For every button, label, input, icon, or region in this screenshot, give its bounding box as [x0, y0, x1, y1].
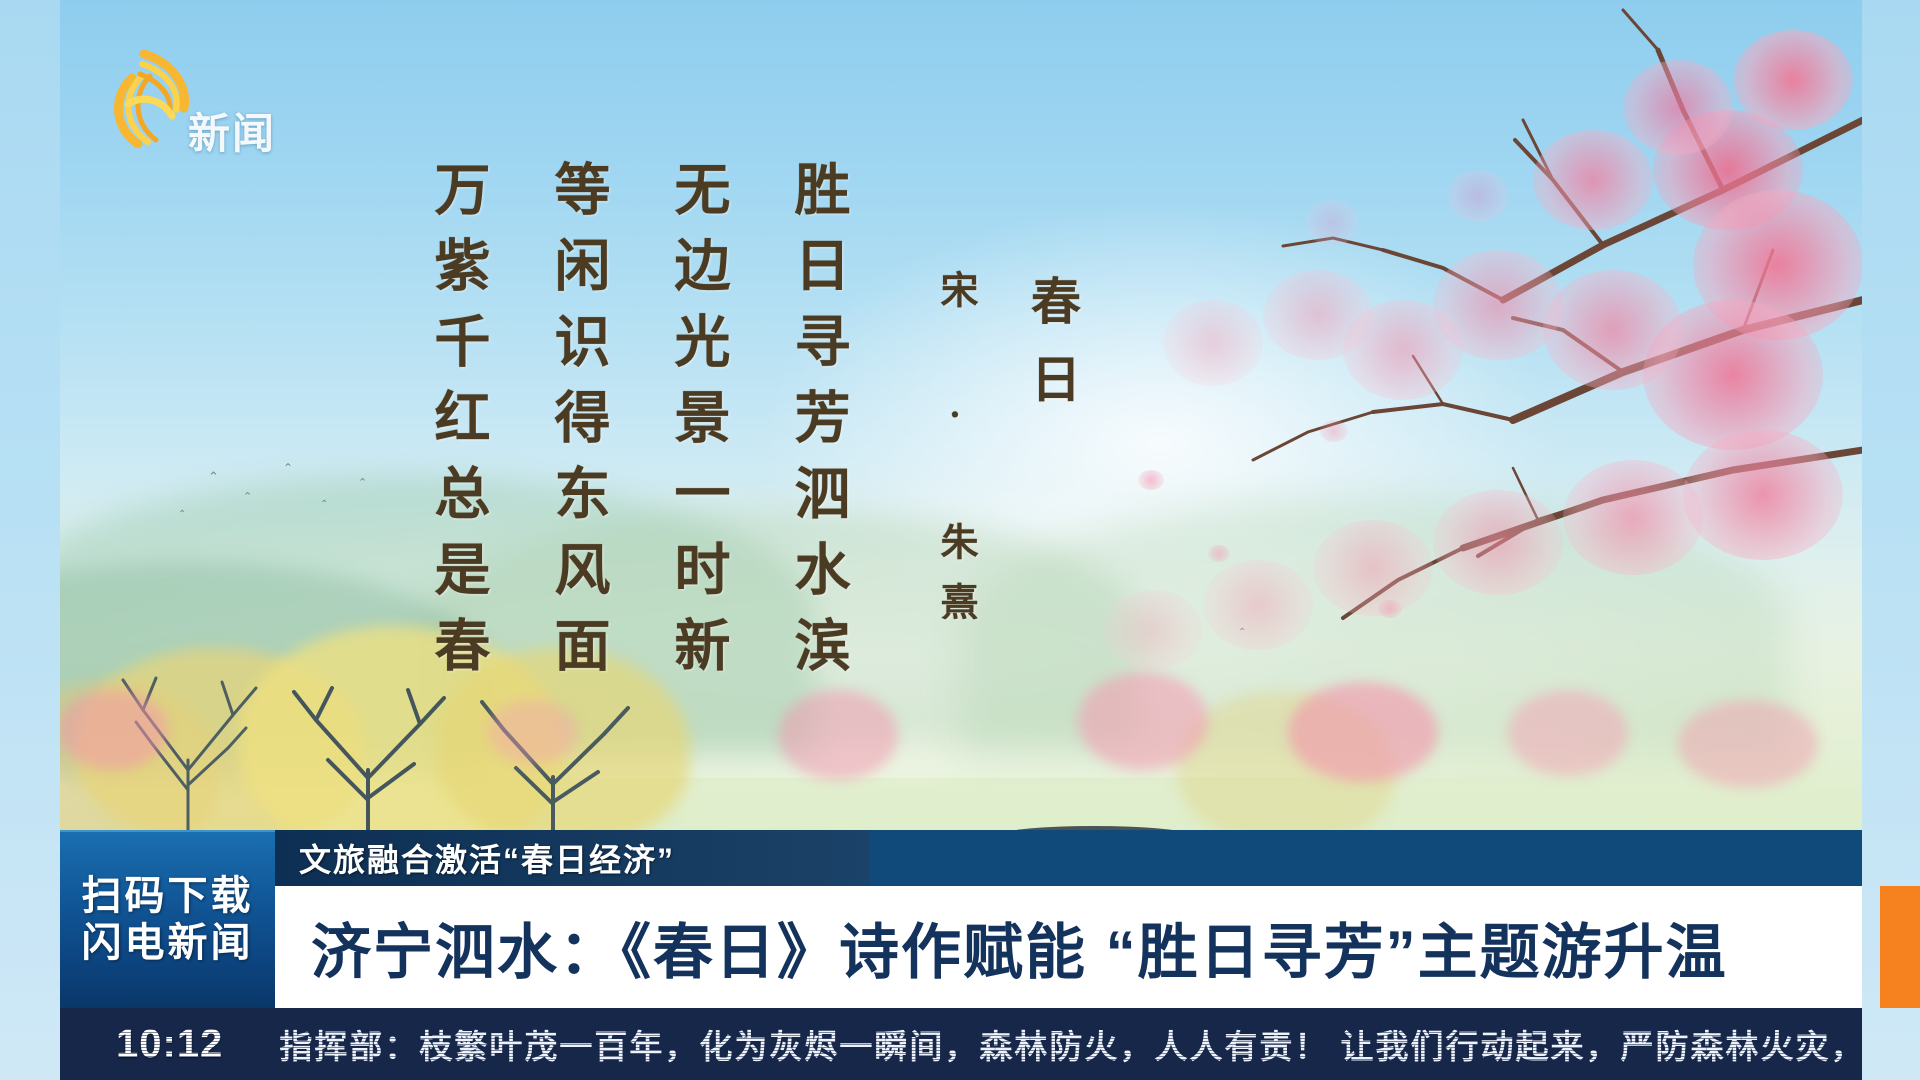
- blossom-cluster: [488, 700, 578, 764]
- poem-line-3: 等闲识得东风面: [537, 160, 618, 692]
- blossom-cluster: [778, 690, 898, 780]
- blossom-cluster: [58, 690, 168, 770]
- bird-icon: ⌃: [320, 500, 328, 510]
- broadcast-frame: ⌃ ⌃ ⌃ ⌃ ⌃ ⌃ ⌃: [0, 0, 1920, 1080]
- channel-logo-text: 新闻: [188, 100, 276, 161]
- news-ticker: 10:12 指挥部：枝繁叶茂一百年，化为灰烬一瞬间，森林防火，人人有责！ 让我们…: [60, 1008, 1862, 1080]
- poem-title: 春日: [1016, 275, 1088, 431]
- blossom-cluster: [1288, 682, 1438, 782]
- bird-icon: ⌃: [178, 510, 186, 520]
- channel-logo: 新闻: [92, 48, 282, 158]
- headline-text: 济宁泗水：《春日》诗作赋能 “胜日寻芳”主题游升温: [275, 904, 1728, 991]
- promo-line-1: 扫码下载: [82, 873, 254, 920]
- poem-line-2: 无边光景一时新: [657, 160, 738, 692]
- falling-petal: [1378, 600, 1402, 618]
- blossom-cluster: [1508, 690, 1628, 776]
- falling-petal: [1138, 470, 1164, 490]
- bird-icon: ⌃: [358, 478, 367, 489]
- lower-third: 扫码下载 闪电新闻 文旅融合激活“春日经济” 济宁泗水：《春日》诗作赋能 “胜日…: [0, 830, 1920, 1080]
- clock: 10:12: [60, 1022, 279, 1067]
- falling-petal: [1208, 545, 1230, 562]
- poem-author: 宋 · 朱熹: [928, 270, 983, 642]
- kicker-text: 文旅融合激活“春日经济”: [275, 835, 675, 881]
- falling-petal: [1320, 420, 1348, 442]
- poem-line-4: 万紫千红总是春: [417, 160, 498, 692]
- swirl-ribbon-icon: [92, 48, 200, 148]
- kicker-bar: 文旅融合激活“春日经济”: [275, 830, 870, 886]
- ticker-message: 指挥部：枝繁叶茂一百年，化为灰烬一瞬间，森林防火，人人有责！ 让我们行动起来，严…: [279, 1020, 1862, 1068]
- app-download-promo[interactable]: 扫码下载 闪电新闻: [60, 830, 275, 1008]
- bird-icon: ⌃: [243, 492, 252, 503]
- accent-block: [1880, 886, 1920, 1008]
- blossom-cluster: [1078, 672, 1208, 770]
- bird-icon: ⌃: [208, 470, 219, 483]
- kicker-rule: [870, 830, 1862, 886]
- poem-line-1: 胜日寻芳泗水滨: [777, 160, 858, 692]
- promo-line-2: 闪电新闻: [82, 920, 254, 967]
- blossom-cluster: [1678, 700, 1818, 788]
- bird-icon: ⌃: [283, 462, 293, 474]
- headline-bar: 济宁泗水：《春日》诗作赋能 “胜日寻芳”主题游升温: [275, 886, 1862, 1008]
- bird-icon: ⌃: [1238, 628, 1246, 638]
